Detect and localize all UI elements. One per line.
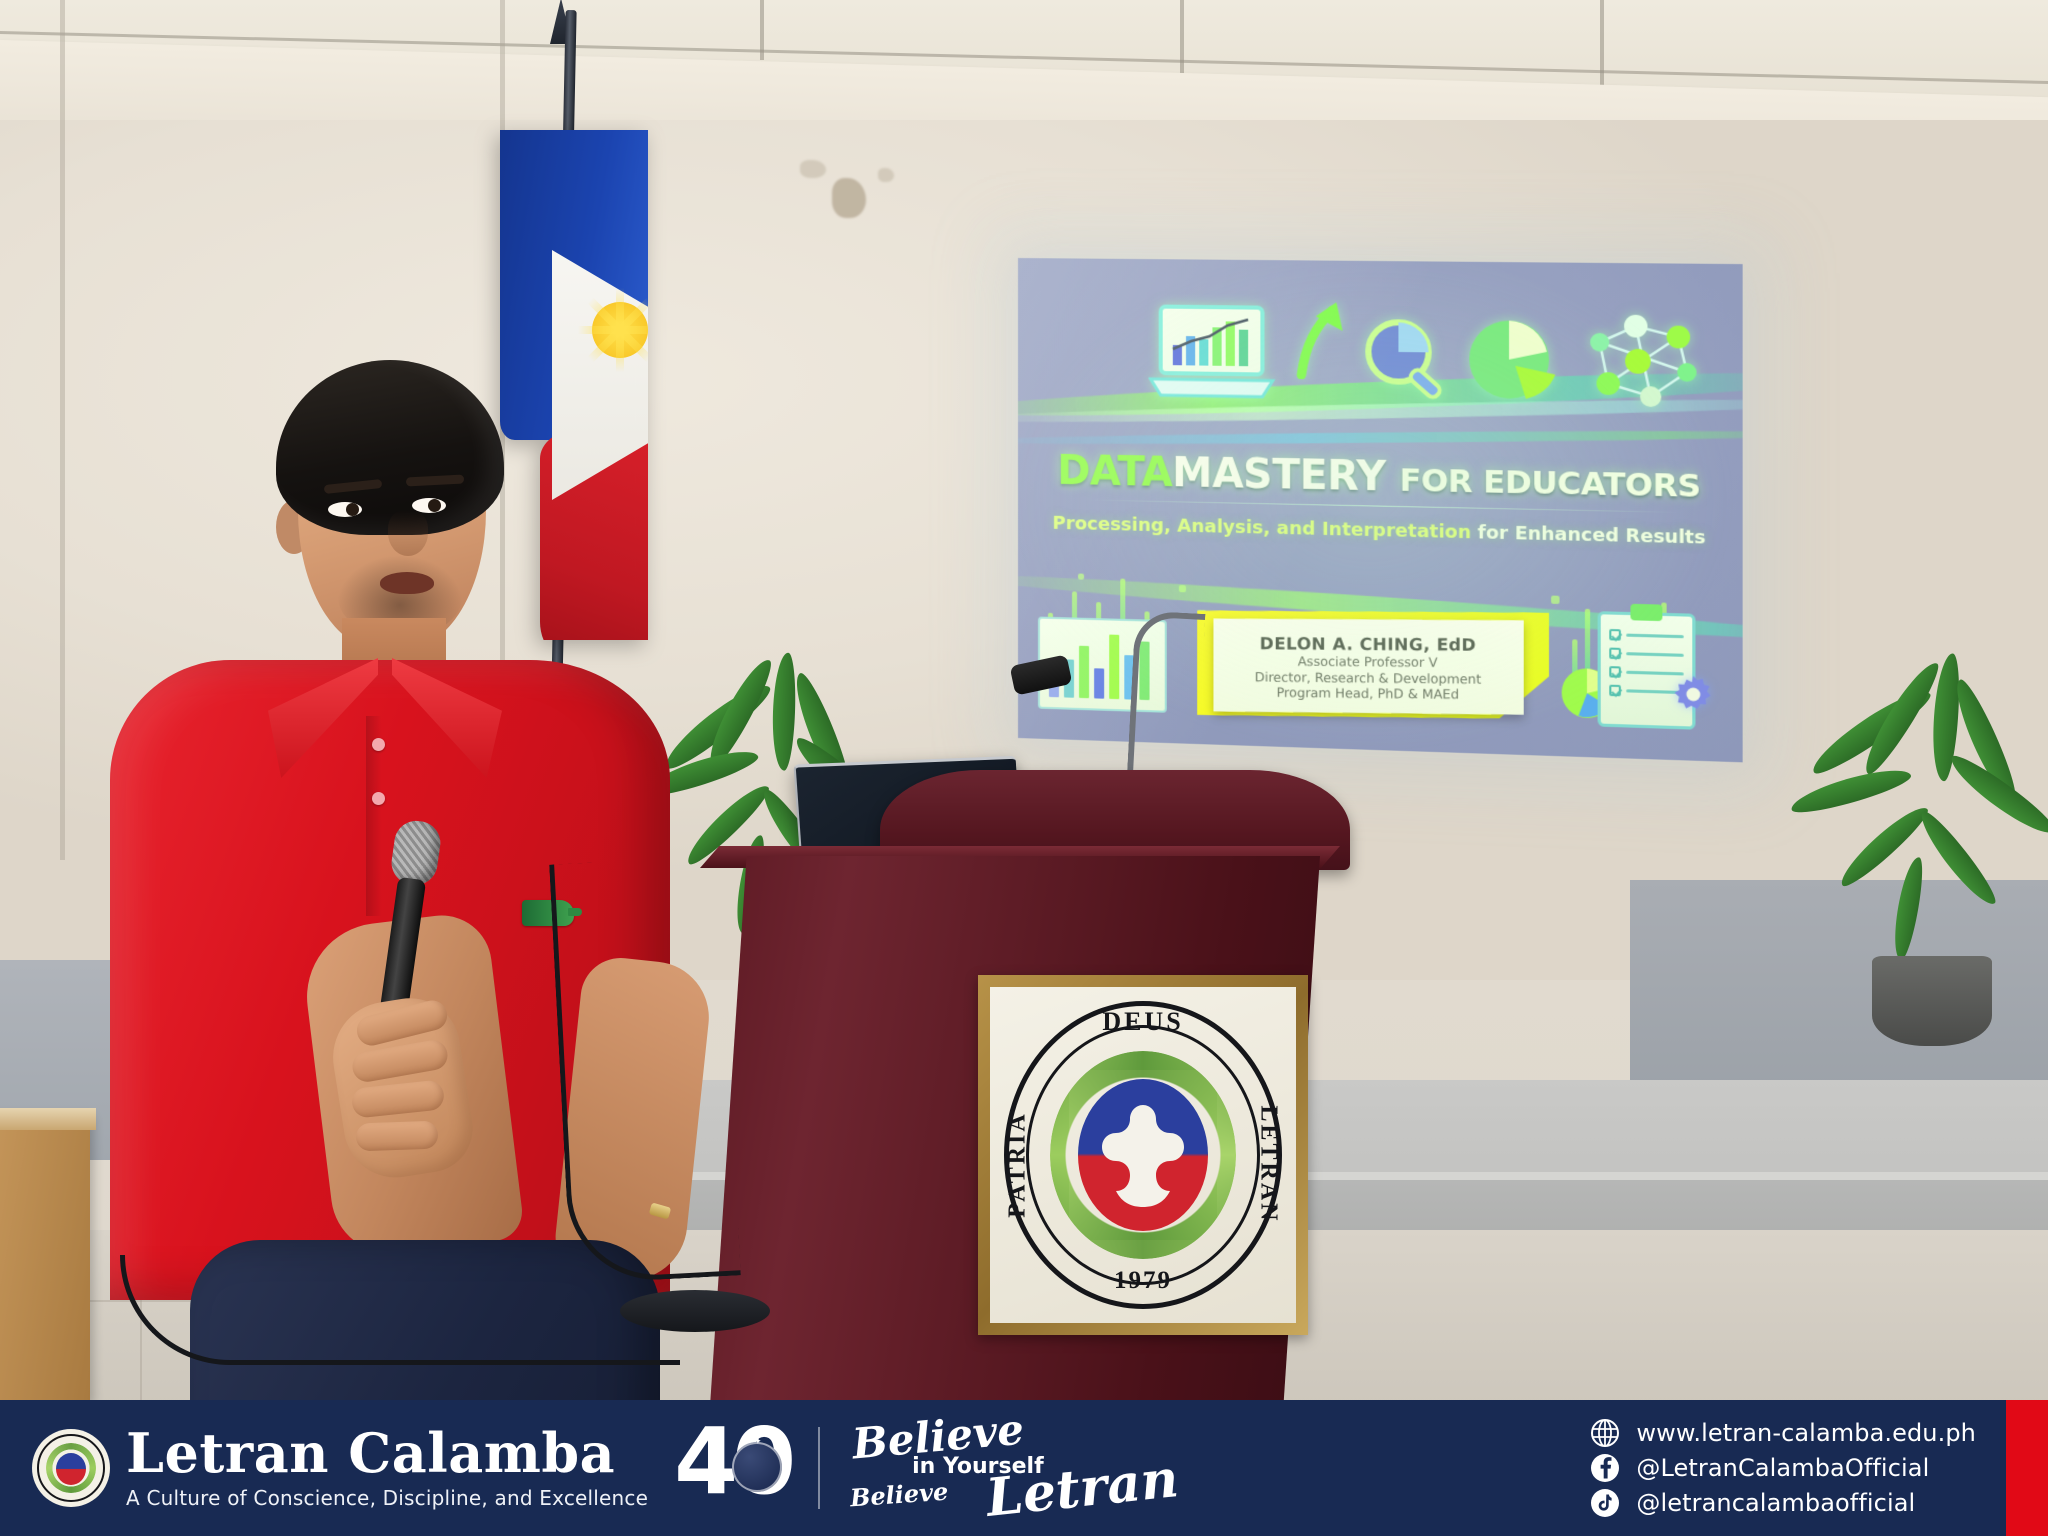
footer-divider: [818, 1427, 820, 1509]
tiktok-icon: [1590, 1488, 1620, 1518]
eye-left: [328, 502, 362, 517]
globe-icon: [1590, 1418, 1620, 1448]
footer-wordmark: Letran Calamba: [126, 1426, 648, 1480]
slide-speaker-card: DELON A. CHING, EdD Associate Professor …: [1213, 618, 1523, 714]
pie-chart-icon: [1461, 310, 1562, 415]
contact-row-website[interactable]: www.letran-calamba.edu.ph: [1590, 1418, 1976, 1448]
footer-banner: Letran Calamba A Culture of Conscience, …: [0, 1400, 2048, 1536]
anniversary-globe-icon: [732, 1442, 782, 1492]
believe-lockup: Believe in Yourself Believe Letran: [846, 1414, 1146, 1522]
floor-cable: [120, 1255, 680, 1365]
mic-head: [389, 818, 443, 888]
network-nodes-icon: [1576, 311, 1701, 417]
speaker-role-3: Program Head, PhD & MAEd: [1276, 685, 1459, 703]
contact-row-facebook[interactable]: @LetranCalambaOfficial: [1590, 1453, 1976, 1483]
dominican-cross-icon: [1100, 1099, 1186, 1211]
tiktok-handle: @letrancalambaofficial: [1636, 1489, 1915, 1517]
footer-brand-block: Letran Calamba A Culture of Conscience, …: [0, 1426, 648, 1510]
footer-seal-icon: [34, 1431, 108, 1505]
slide-icon-row: [1149, 287, 1711, 417]
letran-seal: DEUS PATRIA LETRAN 1979: [1004, 1001, 1282, 1309]
wall-blemish: [832, 178, 866, 218]
slide-title-for-educators: FOR EDUCATORS: [1400, 462, 1701, 505]
star-icon: ✦: [778, 1440, 786, 1451]
flag-sun: [592, 302, 648, 358]
ceiling-tile-seam: [1180, 0, 1184, 80]
wall-seam: [60, 0, 65, 860]
footer-red-accent: [2006, 1400, 2048, 1536]
ceiling-tile-seam: [1600, 0, 1604, 96]
hair: [276, 360, 504, 535]
event-photo: DATAMASTERY FOR EDUCATORS Processing, An…: [0, 0, 2048, 1400]
speaker-name: DELON A. CHING, EdD: [1260, 634, 1477, 655]
website-url: www.letran-calamba.edu.ph: [1636, 1419, 1976, 1447]
gear-icon: [1672, 673, 1715, 716]
star-icon: ✦: [754, 1436, 762, 1447]
contact-row-tiktok[interactable]: @letrancalambaofficial: [1590, 1488, 1976, 1518]
side-table: [0, 1115, 90, 1400]
podium-seal-frame: DEUS PATRIA LETRAN 1979: [978, 975, 1308, 1335]
screenshot-root: DATAMASTERY FOR EDUCATORS Processing, An…: [0, 0, 2048, 1536]
magnifier-icon: [1359, 315, 1446, 413]
seal-year: 1979: [1004, 1267, 1282, 1295]
slide-title-data: DATA: [1057, 448, 1172, 496]
projected-slide: DATAMASTERY FOR EDUCATORS Processing, An…: [1018, 258, 1743, 762]
facebook-handle: @LetranCalambaOfficial: [1636, 1454, 1929, 1482]
laptop-bar-chart-icon: [1149, 302, 1277, 410]
seal-word-patria: PATRIA: [1005, 1065, 1032, 1265]
footer-contact-list: www.letran-calamba.edu.ph @LetranCalamba…: [1590, 1418, 2048, 1518]
nose: [388, 510, 428, 556]
clipboard-clip: [1630, 604, 1662, 621]
believe-line-3: Believe: [849, 1477, 949, 1513]
slide-subtitle-rest: for Enhanced Results: [1478, 522, 1706, 549]
mic-cable: [549, 856, 741, 1284]
slide-title-mastery: MASTERY: [1172, 450, 1385, 501]
mic-stand-base: [620, 1290, 770, 1332]
side-table-top: [0, 1108, 96, 1130]
footer-wordmark-block: Letran Calamba A Culture of Conscience, …: [126, 1426, 648, 1510]
slide-subtitle-highlight: Processing, Analysis, and Interpretation: [1053, 513, 1472, 544]
seal-word-deus: DEUS: [1004, 1007, 1282, 1037]
star-icon: ✦: [766, 1424, 777, 1440]
potted-plant-right: [1790, 700, 2048, 1100]
speaker-role-1: Associate Professor V: [1298, 653, 1438, 670]
wall-blemish: [878, 168, 894, 182]
facebook-icon: [1590, 1453, 1620, 1483]
footer-tagline: A Culture of Conscience, Discipline, and…: [126, 1486, 648, 1510]
growth-arrow-icon: [1291, 300, 1345, 385]
slide-subtitle: Processing, Analysis, and Interpretation…: [1018, 512, 1743, 550]
slide-title: DATAMASTERY FOR EDUCATORS: [1018, 450, 1743, 505]
seal-word-letran: LETRAN: [1255, 1065, 1282, 1265]
mouth: [380, 572, 434, 594]
anniversary-logo: 40 ✦ ✦ ✦: [674, 1418, 792, 1518]
plant-pot: [1872, 956, 1992, 1046]
shirt-button: [372, 738, 385, 751]
slide-wave: [1018, 428, 1743, 446]
shirt-button: [372, 792, 385, 805]
finger: [356, 1121, 439, 1152]
wall-blemish: [800, 160, 826, 178]
seal-shield: [1078, 1079, 1208, 1231]
